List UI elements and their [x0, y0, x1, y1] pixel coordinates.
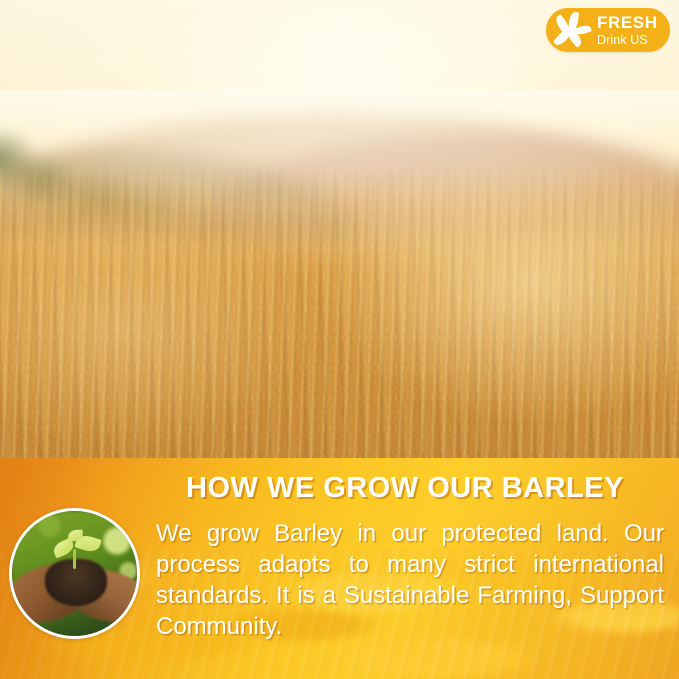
- soil-mound: [45, 559, 108, 607]
- brand-logo-text: FRESH Drink US: [596, 14, 658, 47]
- sprout-stem: [73, 549, 76, 569]
- brand-name: FRESH: [597, 14, 658, 31]
- page-title: HOW WE GROW OUR BARLEY: [150, 474, 660, 503]
- body-paragraph: We grow Barley in our protected land. Ou…: [156, 518, 664, 673]
- wheat-ear-texture: [0, 188, 679, 458]
- product-image-card: FRESH Drink US HOW WE GROW OUR BARLEY We…: [0, 0, 679, 679]
- hero-wheat-field-photo: [0, 0, 679, 458]
- brand-tagline: Drink US: [597, 34, 658, 47]
- brand-logo-badge: FRESH Drink US: [546, 8, 670, 52]
- seedling-circle-photo: [9, 508, 140, 639]
- flower-petals-icon: [552, 10, 596, 50]
